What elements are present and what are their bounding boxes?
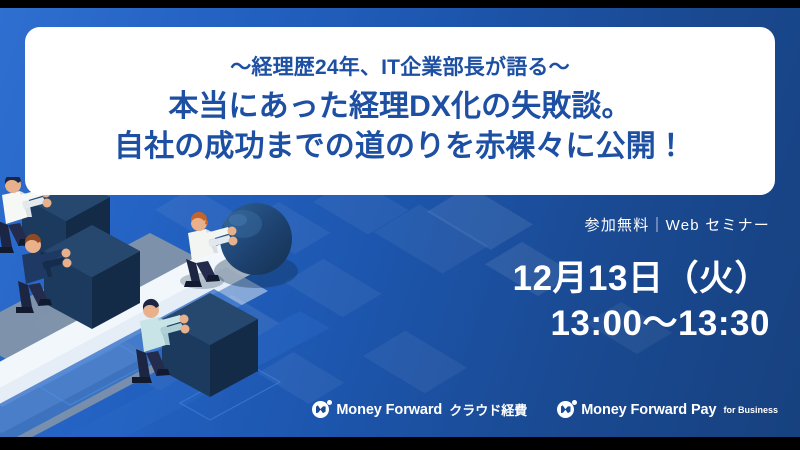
seminar-time: 13:00〜13:30 xyxy=(513,302,770,347)
money-forward-mark-icon xyxy=(557,401,574,418)
logo-money-forward-cloud-keihi: Money Forward クラウド経費 xyxy=(312,400,527,419)
logo-wordmark: Money Forward Pay xyxy=(581,402,716,418)
free-admission-label: 参加無料｜Web セミナー xyxy=(513,214,770,235)
isometric-people-pushing-blocks-illustration xyxy=(0,177,330,437)
logo-suffix: クラウド経費 xyxy=(449,400,527,419)
banner-stage: 〜経理歴24年、IT企業部長が語る〜 本当にあった経理DX化の失敗談。 自社の成… xyxy=(0,8,800,437)
headline-card: 〜経理歴24年、IT企業部長が語る〜 本当にあった経理DX化の失敗談。 自社の成… xyxy=(25,27,775,195)
letterbox-bar-bottom xyxy=(0,437,800,450)
headline-line-1: 本当にあった経理DX化の失敗談。 xyxy=(168,87,631,127)
headline-line-2: 自社の成功までの道のりを赤裸々に公開！ xyxy=(114,127,686,167)
seminar-info: 参加無料｜Web セミナー 12月13日（火） 13:00〜13:30 xyxy=(513,214,770,347)
logo-wordmark: Money Forward xyxy=(336,402,442,418)
headline-kicker: 〜経理歴24年、IT企業部長が語る〜 xyxy=(230,55,570,81)
money-forward-mark-icon xyxy=(312,401,329,418)
seminar-date: 12月13日（火） xyxy=(513,257,770,302)
logo-money-forward-pay-for-business: Money Forward Pay for Business xyxy=(557,401,778,418)
decorative-diamond xyxy=(363,331,467,394)
letterbox-bar-top xyxy=(0,0,800,8)
webinar-banner: 〜経理歴24年、IT企業部長が語る〜 本当にあった経理DX化の失敗談。 自社の成… xyxy=(0,0,800,450)
logo-suffix: for Business xyxy=(723,405,778,415)
logo-bar: Money Forward クラウド経費 Money Forward Pay f… xyxy=(312,400,778,419)
